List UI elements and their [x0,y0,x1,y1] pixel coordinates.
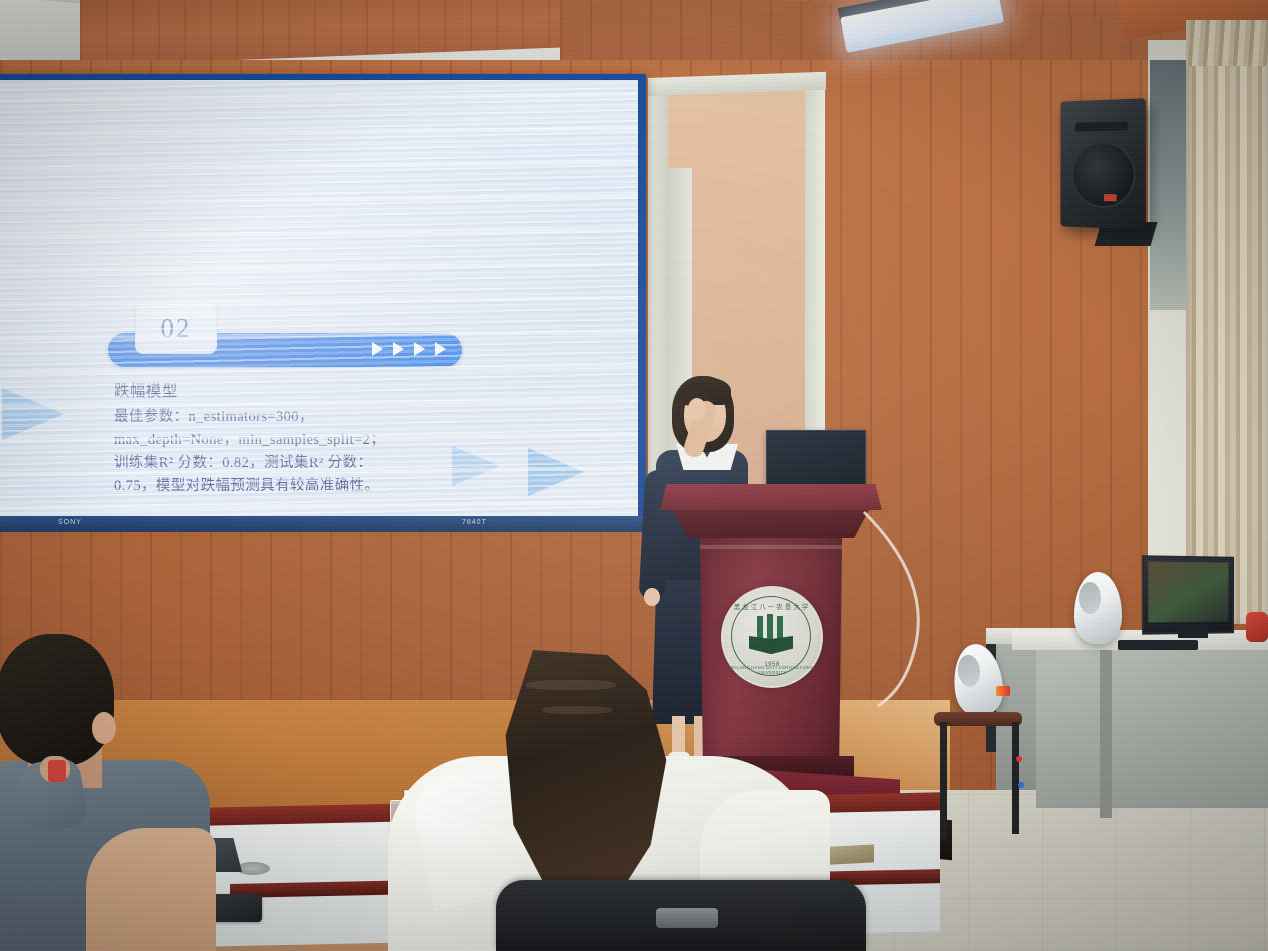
lecture-hall-photo: 02 跌幅模型 最佳参数：n_estimators=300， max_depth… [0,0,1268,951]
audience-left-head [0,634,114,766]
play-arrow-icon [393,342,404,356]
monitor-screen [1148,561,1228,622]
audience-left-arm-bare [86,828,216,951]
screen-right-tag: 7840T [462,519,487,526]
emblem-pillar [767,614,773,640]
keyboard[interactable] [1118,640,1198,650]
slide-section-number-badge: 02 [135,302,217,354]
monitor-stand [1178,626,1208,638]
speaker-horn-slot [1075,121,1127,131]
red-object [1246,612,1268,642]
curtain-pleats [1186,20,1268,66]
play-arrow-icon [414,342,425,356]
play-arrow-icon [435,342,446,356]
presenter-hand [688,398,706,420]
pa-speaker [1060,98,1145,229]
podium-apron [672,508,870,538]
hair-highlight [542,706,612,714]
emblem-text-en: HEILONGJIANG BAYI AGRICULTURAL UNIVERSIT… [723,665,821,675]
screen-left-tag: SONY [58,519,82,526]
desktop-monitor[interactable] [1142,555,1234,635]
hair-highlight [526,680,616,690]
window-curtain [1186,24,1268,624]
alcove-frame-left [648,78,668,514]
slide-triangle-right [528,448,584,496]
slide-text-block: 跌幅模型 最佳参数：n_estimators=300， max_depth=No… [114,380,474,498]
slide-arrow-group [372,342,446,356]
emblem-pillar [777,616,783,640]
red-cup [48,760,66,782]
slide-line-4: 0.75，模型对跌幅预测具有较高准确性。 [114,475,474,498]
slide-triangle-left [2,388,64,440]
emblem-text-cn: 黑龙江八一农垦大学 [723,601,821,611]
slide-line-3: 训练集R² 分数：0.82，测试集R² 分数： [114,452,474,475]
slide-title: 跌幅模型 [114,380,474,403]
slide-section-number: 02 [161,313,192,344]
rack-indicator [996,686,1010,696]
emblem-pillar [757,616,763,640]
speaker-grill [1079,582,1101,614]
screen-bottom-bar [0,516,646,532]
podium-trim [700,545,842,549]
speaker-brand-logo [1104,194,1117,201]
projection-screen: 02 跌幅模型 最佳参数：n_estimators=300， max_depth… [0,80,638,518]
speaker-grill [956,654,981,688]
slide-line-1: 最佳参数：n_estimators=300， [114,406,474,429]
desk-leg [1100,648,1112,818]
computer-desk [1036,648,1268,808]
chair-brand-plate [656,908,718,928]
stool-top [934,712,1022,726]
tower-power-led [1016,756,1022,762]
stool-leg [1012,722,1019,834]
presenter-hand-lower [644,588,660,606]
tower-activity-led [1018,782,1024,788]
audience-left-ear [92,712,116,744]
stool-leg [940,722,947,840]
podium-top [660,484,882,510]
play-arrow-icon [372,342,383,356]
university-emblem: 黑龙江八一农垦大学 1958 HEILONGJIANG BAYI AGRICUL… [721,586,823,688]
slide-line-2: max_depth=None，min_samples_split=2； [114,429,474,452]
ceiling-beam [0,0,80,65]
